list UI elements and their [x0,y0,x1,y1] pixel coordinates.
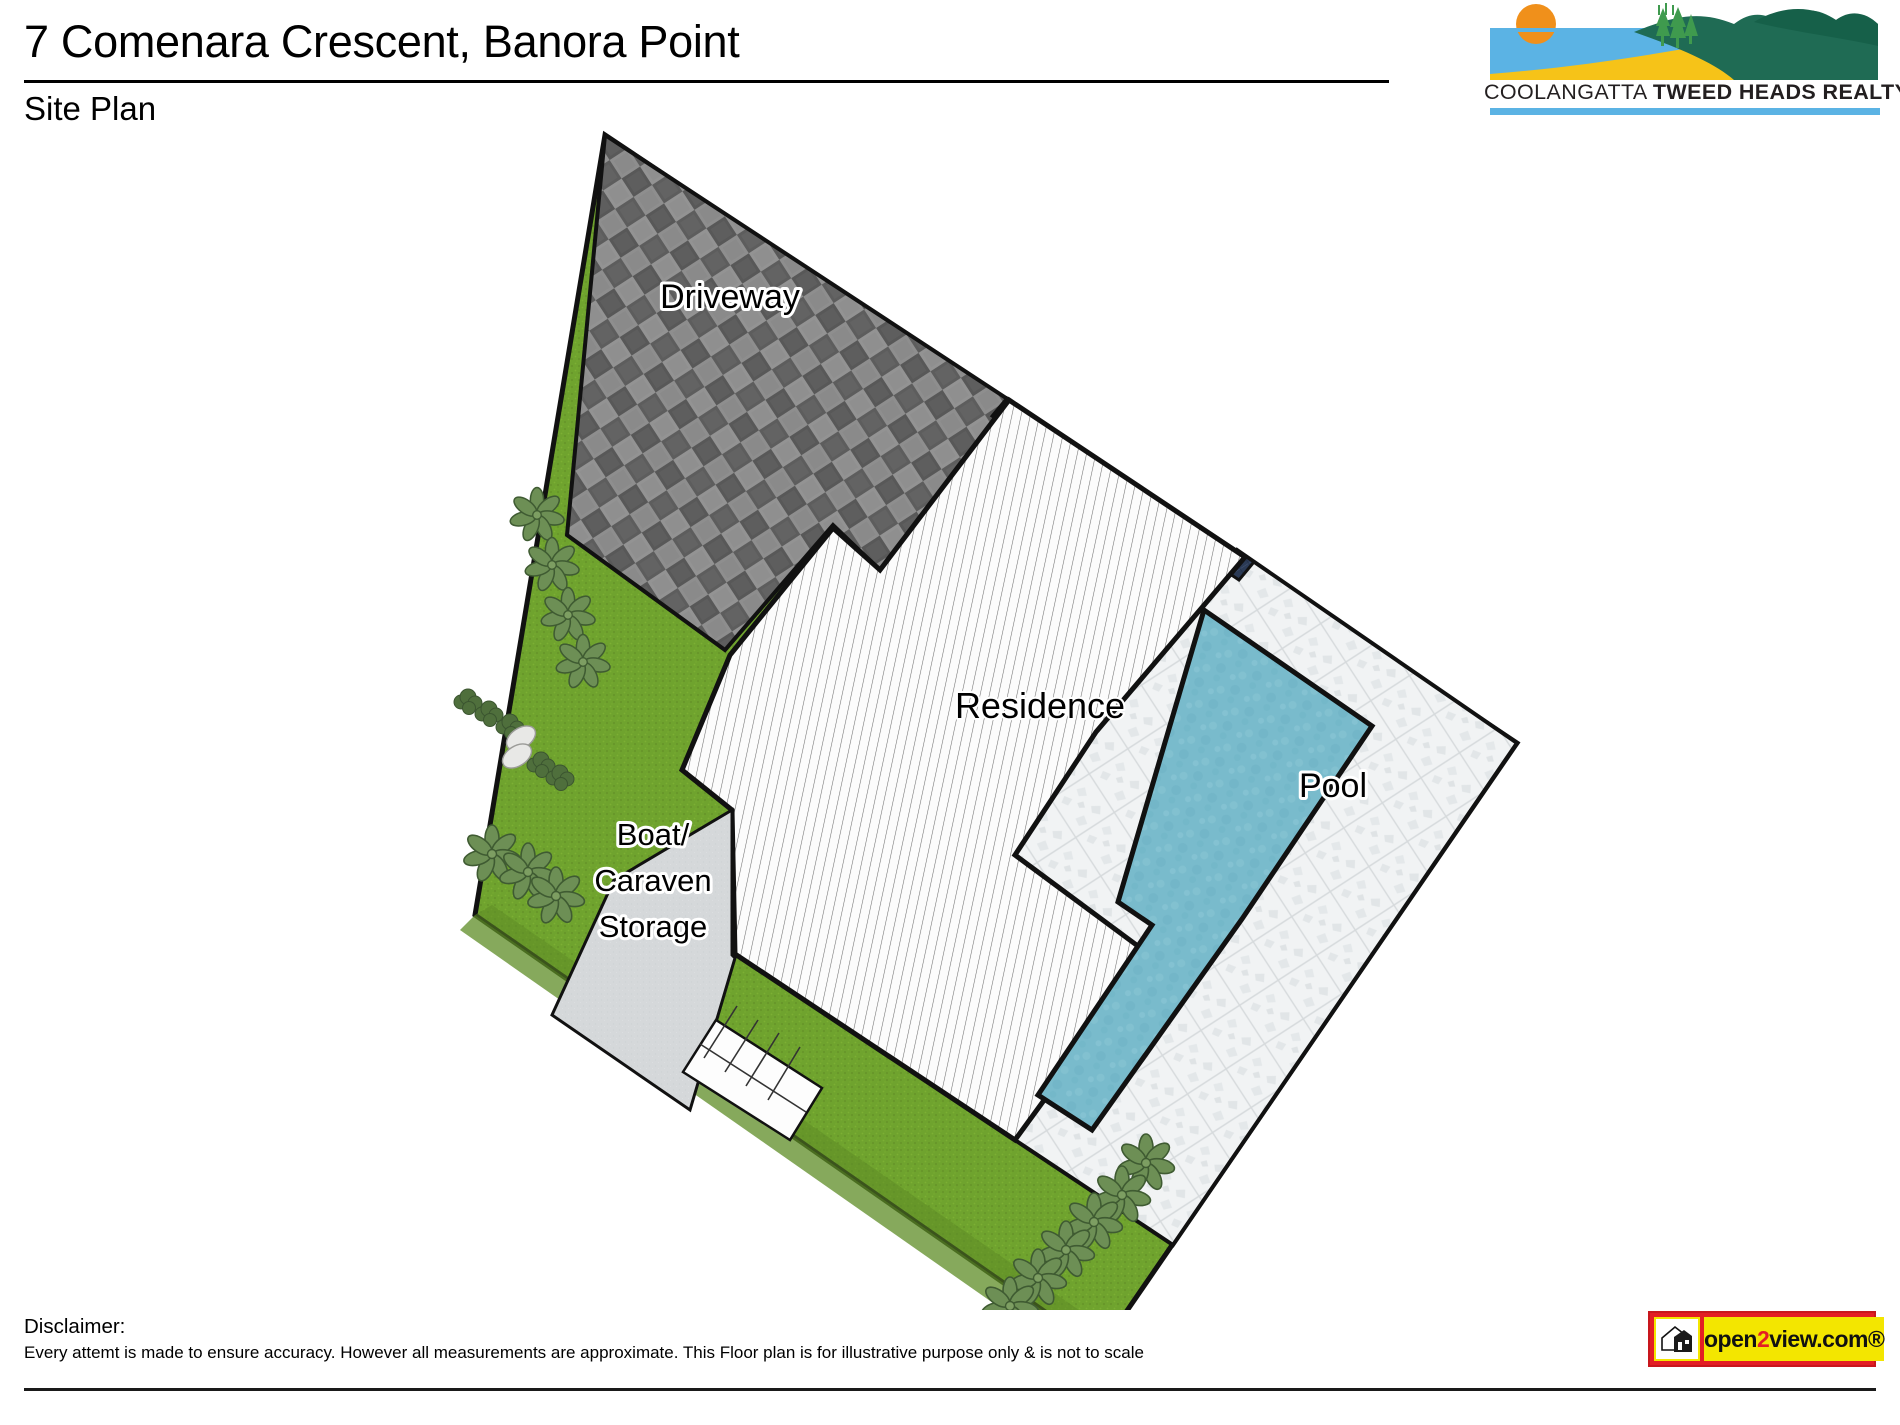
brand-logo-graphic [1484,2,1884,82]
label-storage-line-1: Boat/ [617,817,690,852]
site-plan-drawing: Driveway Residence Pool Boat/ Caraven St… [0,110,1900,1310]
disclaimer-block: Disclaimer: Every attemt is made to ensu… [24,1315,1274,1363]
brand-word-2: TWEED HEADS [1653,80,1816,104]
label-storage-line-3: Storage [599,909,708,944]
open2view-logo[interactable]: open2view.com® [1648,1311,1876,1367]
o2v-word-two: 2 [1757,1328,1769,1351]
page-title: 7 Comenara Crescent, Banora Point [24,18,1374,65]
open2view-wordmark: open2view.com® [1704,1317,1884,1361]
title-divider [24,80,1389,83]
label-pool: Pool [1299,767,1367,805]
label-storage-line-2: Caraven [594,863,711,898]
disclaimer-text: Every attemt is made to ensure accuracy.… [24,1342,1274,1363]
label-driveway: Driveway [660,278,800,316]
house-icon [1654,1317,1700,1361]
site-plan-canvas: Driveway Residence Pool Boat/ Caraven St… [0,110,1900,1310]
title-block: 7 Comenara Crescent, Banora Point [24,18,1374,65]
o2v-registered-mark: ® [1868,1328,1884,1351]
brand-word-1: COOLANGATTA [1484,80,1647,104]
brand-logo: COOLANGATTA TWEED HEADS REALTY [1484,2,1884,122]
house-icon-graphic [1660,1324,1694,1354]
o2v-word-view: view.com [1769,1328,1868,1351]
logo-sun-icon [1516,4,1556,44]
o2v-word-open: open [1704,1328,1757,1351]
brand-name: COOLANGATTA TWEED HEADS REALTY [1484,80,1884,105]
footer-divider [24,1388,1876,1391]
logo-pine-trees-icon [1656,3,1698,48]
disclaimer-title: Disclaimer: [24,1315,1274,1339]
label-residence: Residence [955,685,1125,726]
brand-word-3: REALTY [1823,80,1900,104]
page-footer: Disclaimer: Every attemt is made to ensu… [0,1305,1900,1425]
